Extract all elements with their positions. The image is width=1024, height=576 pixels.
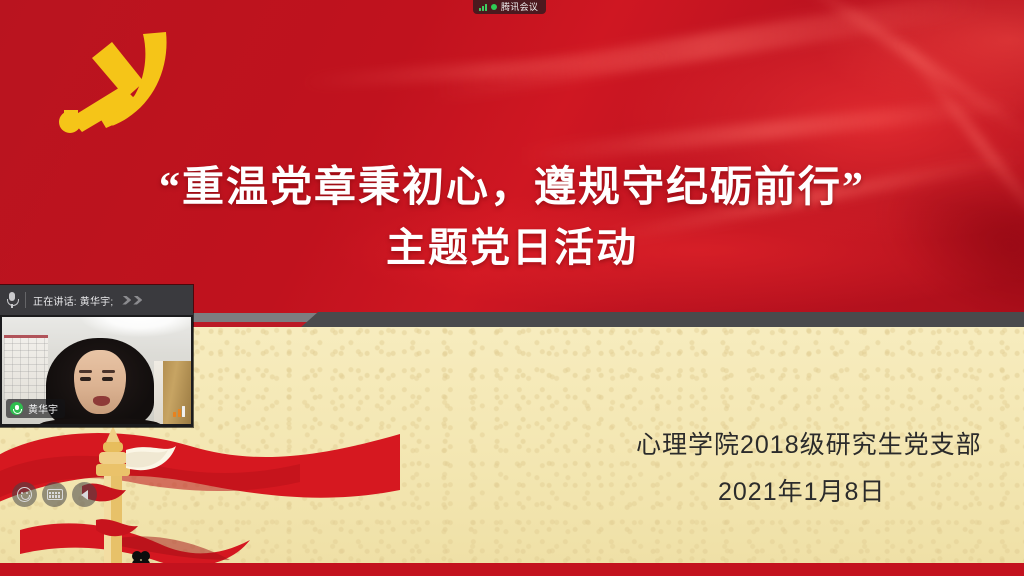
slide-title-line1: “重温党章秉初心，遵规守纪砺前行” [159,165,865,211]
video-panel-header: 正在讲话: 黄华宇; [0,285,193,315]
chevron-right-icon [81,490,88,500]
organization-line: 心理学院2018级研究生党支部 [636,425,982,461]
emoji-button[interactable] [12,482,37,507]
date-line: 2021年1月8日 [718,472,885,508]
keyboard-icon [47,489,63,500]
microphone-icon [6,291,18,309]
signal-bars-icon [479,3,487,11]
participant-name: 黄华宇 [28,401,58,416]
audio-wave-icon [122,296,142,305]
speaking-status-text: 正在讲话: 黄华宇; [33,293,113,308]
tencent-meeting-label: 腾讯会议 [501,3,538,12]
floating-controls [12,482,97,507]
silk-highlight [432,0,1024,102]
participant-name-badge: 黄华宇 [6,399,65,418]
silk-highlight [785,0,1024,161]
hammer-and-sickle-icon [48,26,178,144]
collapse-button[interactable] [72,482,97,507]
header-divider [25,292,26,308]
bottom-red-strip [0,563,1024,576]
silk-highlight [521,89,1024,165]
network-signal-icon [173,405,185,417]
smiley-face-icon [17,487,32,502]
slide-title: “重温党章秉初心，遵规守纪砺前行” 主题党日活动 [0,160,1024,275]
wall-poster [4,335,48,400]
microphone-on-icon [10,402,23,415]
silk-highlight [300,45,720,90]
video-thumbnail-panel[interactable]: 正在讲话: 黄华宇; 黄华宇 [0,285,193,427]
meeting-screen-share: “重温党章秉初心，遵规守纪砺前行” 主题党日活动 [0,0,1024,576]
participant-video-feed[interactable]: 黄华宇 [2,317,191,424]
tencent-meeting-floating-bar[interactable]: 腾讯会议 [473,0,546,14]
slide-title-line2: 主题党日活动 [0,221,1024,275]
green-status-dot [491,4,497,10]
keyboard-button[interactable] [42,482,67,507]
